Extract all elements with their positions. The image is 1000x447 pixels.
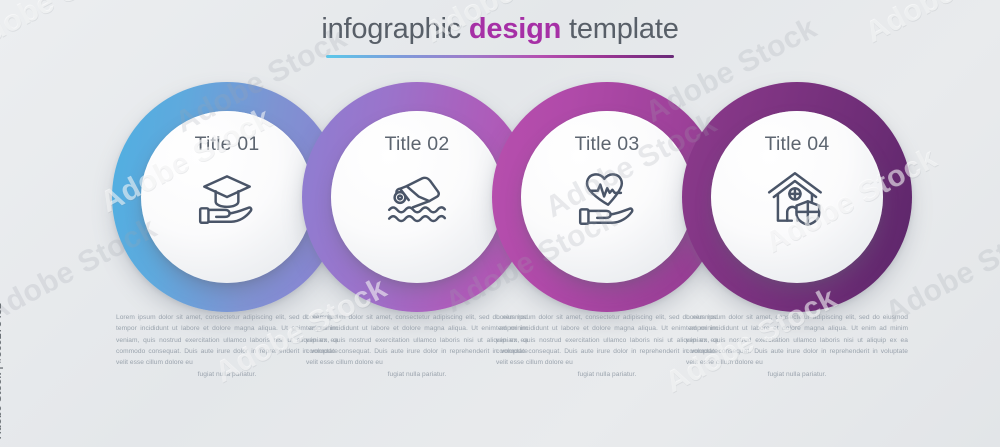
step-item-4[interactable]: Title 04 Lorem ipsum <box>672 0 922 447</box>
step-disc-4[interactable]: Title 04 <box>711 111 883 283</box>
step-disc-wrap-4: Title 04 <box>682 82 912 312</box>
step-title-2: Title 02 <box>385 135 450 155</box>
step-description-text-4: Lorem ipsum dolor sit amet, consectetur … <box>686 314 908 366</box>
page-title-part2: template <box>561 13 679 45</box>
graduation-cap-on-hand-icon <box>194 167 260 229</box>
step-disc-2[interactable]: Title 02 <box>331 111 503 283</box>
house-with-shield-icon <box>764 167 830 229</box>
step-disc-3[interactable]: Title 03 <box>521 111 693 283</box>
heart-with-pulse-on-hand-icon <box>574 167 640 229</box>
header: infographic design template <box>0 14 1000 58</box>
page-title: infographic design template <box>321 14 678 46</box>
step-disc-1[interactable]: Title 01 <box>141 111 313 283</box>
step-title-3: Title 03 <box>575 135 640 155</box>
infographic-steps: Title 01 Lorem ipsum dolor sit amet, con… <box>0 0 1000 447</box>
page-title-accent: design <box>469 13 561 45</box>
title-underline-rule <box>326 55 674 58</box>
step-title-4: Title 04 <box>765 135 830 155</box>
page-title-part1: infographic <box>321 13 469 45</box>
step-description-4: Lorem ipsum dolor sit amet, consectetur … <box>686 312 908 380</box>
car-sinking-in-water-icon <box>384 167 450 229</box>
step-description-last-4: fugiat nulla pariatur. <box>686 369 908 380</box>
step-title-1: Title 01 <box>195 135 260 155</box>
